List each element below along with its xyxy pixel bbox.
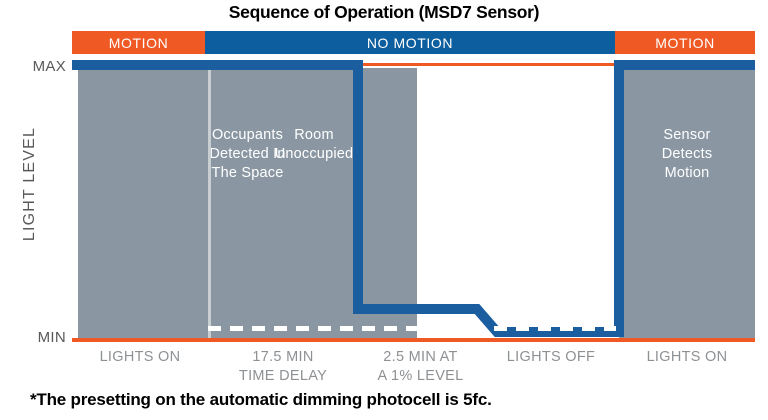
banner-segment-no-motion: NO MOTION <box>205 31 615 54</box>
y-axis-max-label: MAX <box>33 58 66 75</box>
x-axis-labels: LIGHTS ON 17.5 MINTIME DELAY 2.5 MIN ATA… <box>72 348 755 392</box>
x-label-lights-off: LIGHTS OFF <box>483 348 619 392</box>
x-label-one-percent: 2.5 MIN ATA 1% LEVEL <box>358 348 483 392</box>
banner-segment-motion-right: MOTION <box>615 31 755 54</box>
motion-state-banner: MOTION NO MOTION MOTION <box>72 31 755 54</box>
baseline-orange-rule <box>72 338 755 342</box>
plot-area: OccupantsDetected InThe Space SensorDete… <box>72 60 755 342</box>
x-label-lights-on-2: LIGHTS ON <box>619 348 755 392</box>
light-level-trace <box>72 60 755 342</box>
footnote-text: *The presetting on the automatic dimming… <box>30 390 492 410</box>
y-axis-title: LIGHT LEVEL <box>21 94 39 274</box>
y-axis-min-label: MIN <box>38 329 66 346</box>
page-title: Sequence of Operation (MSD7 Sensor) <box>0 2 768 23</box>
min-level-dashed-reference <box>208 326 616 331</box>
x-label-time-delay: 17.5 MINTIME DELAY <box>208 348 358 392</box>
banner-segment-motion-left: MOTION <box>72 31 205 54</box>
x-label-lights-on-1: LIGHTS ON <box>72 348 208 392</box>
